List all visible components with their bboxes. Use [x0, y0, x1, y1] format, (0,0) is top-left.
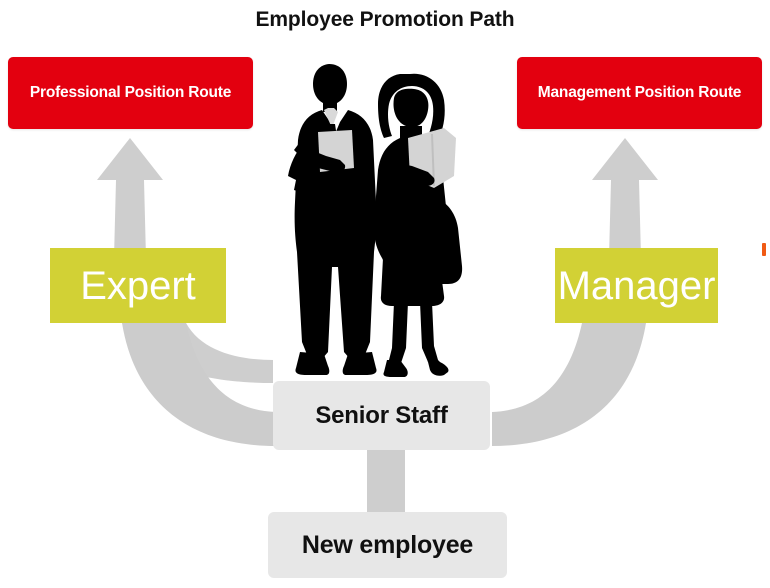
edge-artifact-mark	[762, 243, 766, 256]
stage-box-senior-staff[interactable]: Senior Staff	[273, 381, 490, 450]
business-people-silhouette-icon	[288, 52, 493, 377]
stage-label-new-employee: New employee	[302, 531, 473, 560]
up-arrow-left-icon	[97, 138, 163, 258]
up-arrow-right-icon	[592, 138, 658, 258]
curved-arrow-left-icon	[122, 323, 273, 383]
tier-label-expert: Expert	[80, 266, 196, 306]
vertical-connector-icon	[367, 446, 405, 518]
route-box-management[interactable]: Management Position Route	[517, 57, 762, 129]
tier-box-manager[interactable]: Manager	[555, 248, 718, 323]
curved-arrow-right-band-icon	[492, 323, 646, 446]
route-box-professional[interactable]: Professional Position Route	[8, 57, 253, 129]
promotion-path-diagram: Employee Promotion Path Professional Pos…	[0, 0, 770, 588]
tier-label-manager: Manager	[558, 266, 716, 306]
route-label-management: Management Position Route	[538, 84, 741, 102]
stage-label-senior-staff: Senior Staff	[315, 402, 447, 430]
route-label-professional: Professional Position Route	[30, 84, 231, 102]
curved-arrow-left-band-icon	[122, 323, 276, 446]
page-title: Employee Promotion Path	[0, 8, 770, 32]
tier-box-expert[interactable]: Expert	[50, 248, 226, 323]
stage-box-new-employee[interactable]: New employee	[268, 512, 507, 578]
businesswoman-silhouette	[374, 74, 462, 377]
